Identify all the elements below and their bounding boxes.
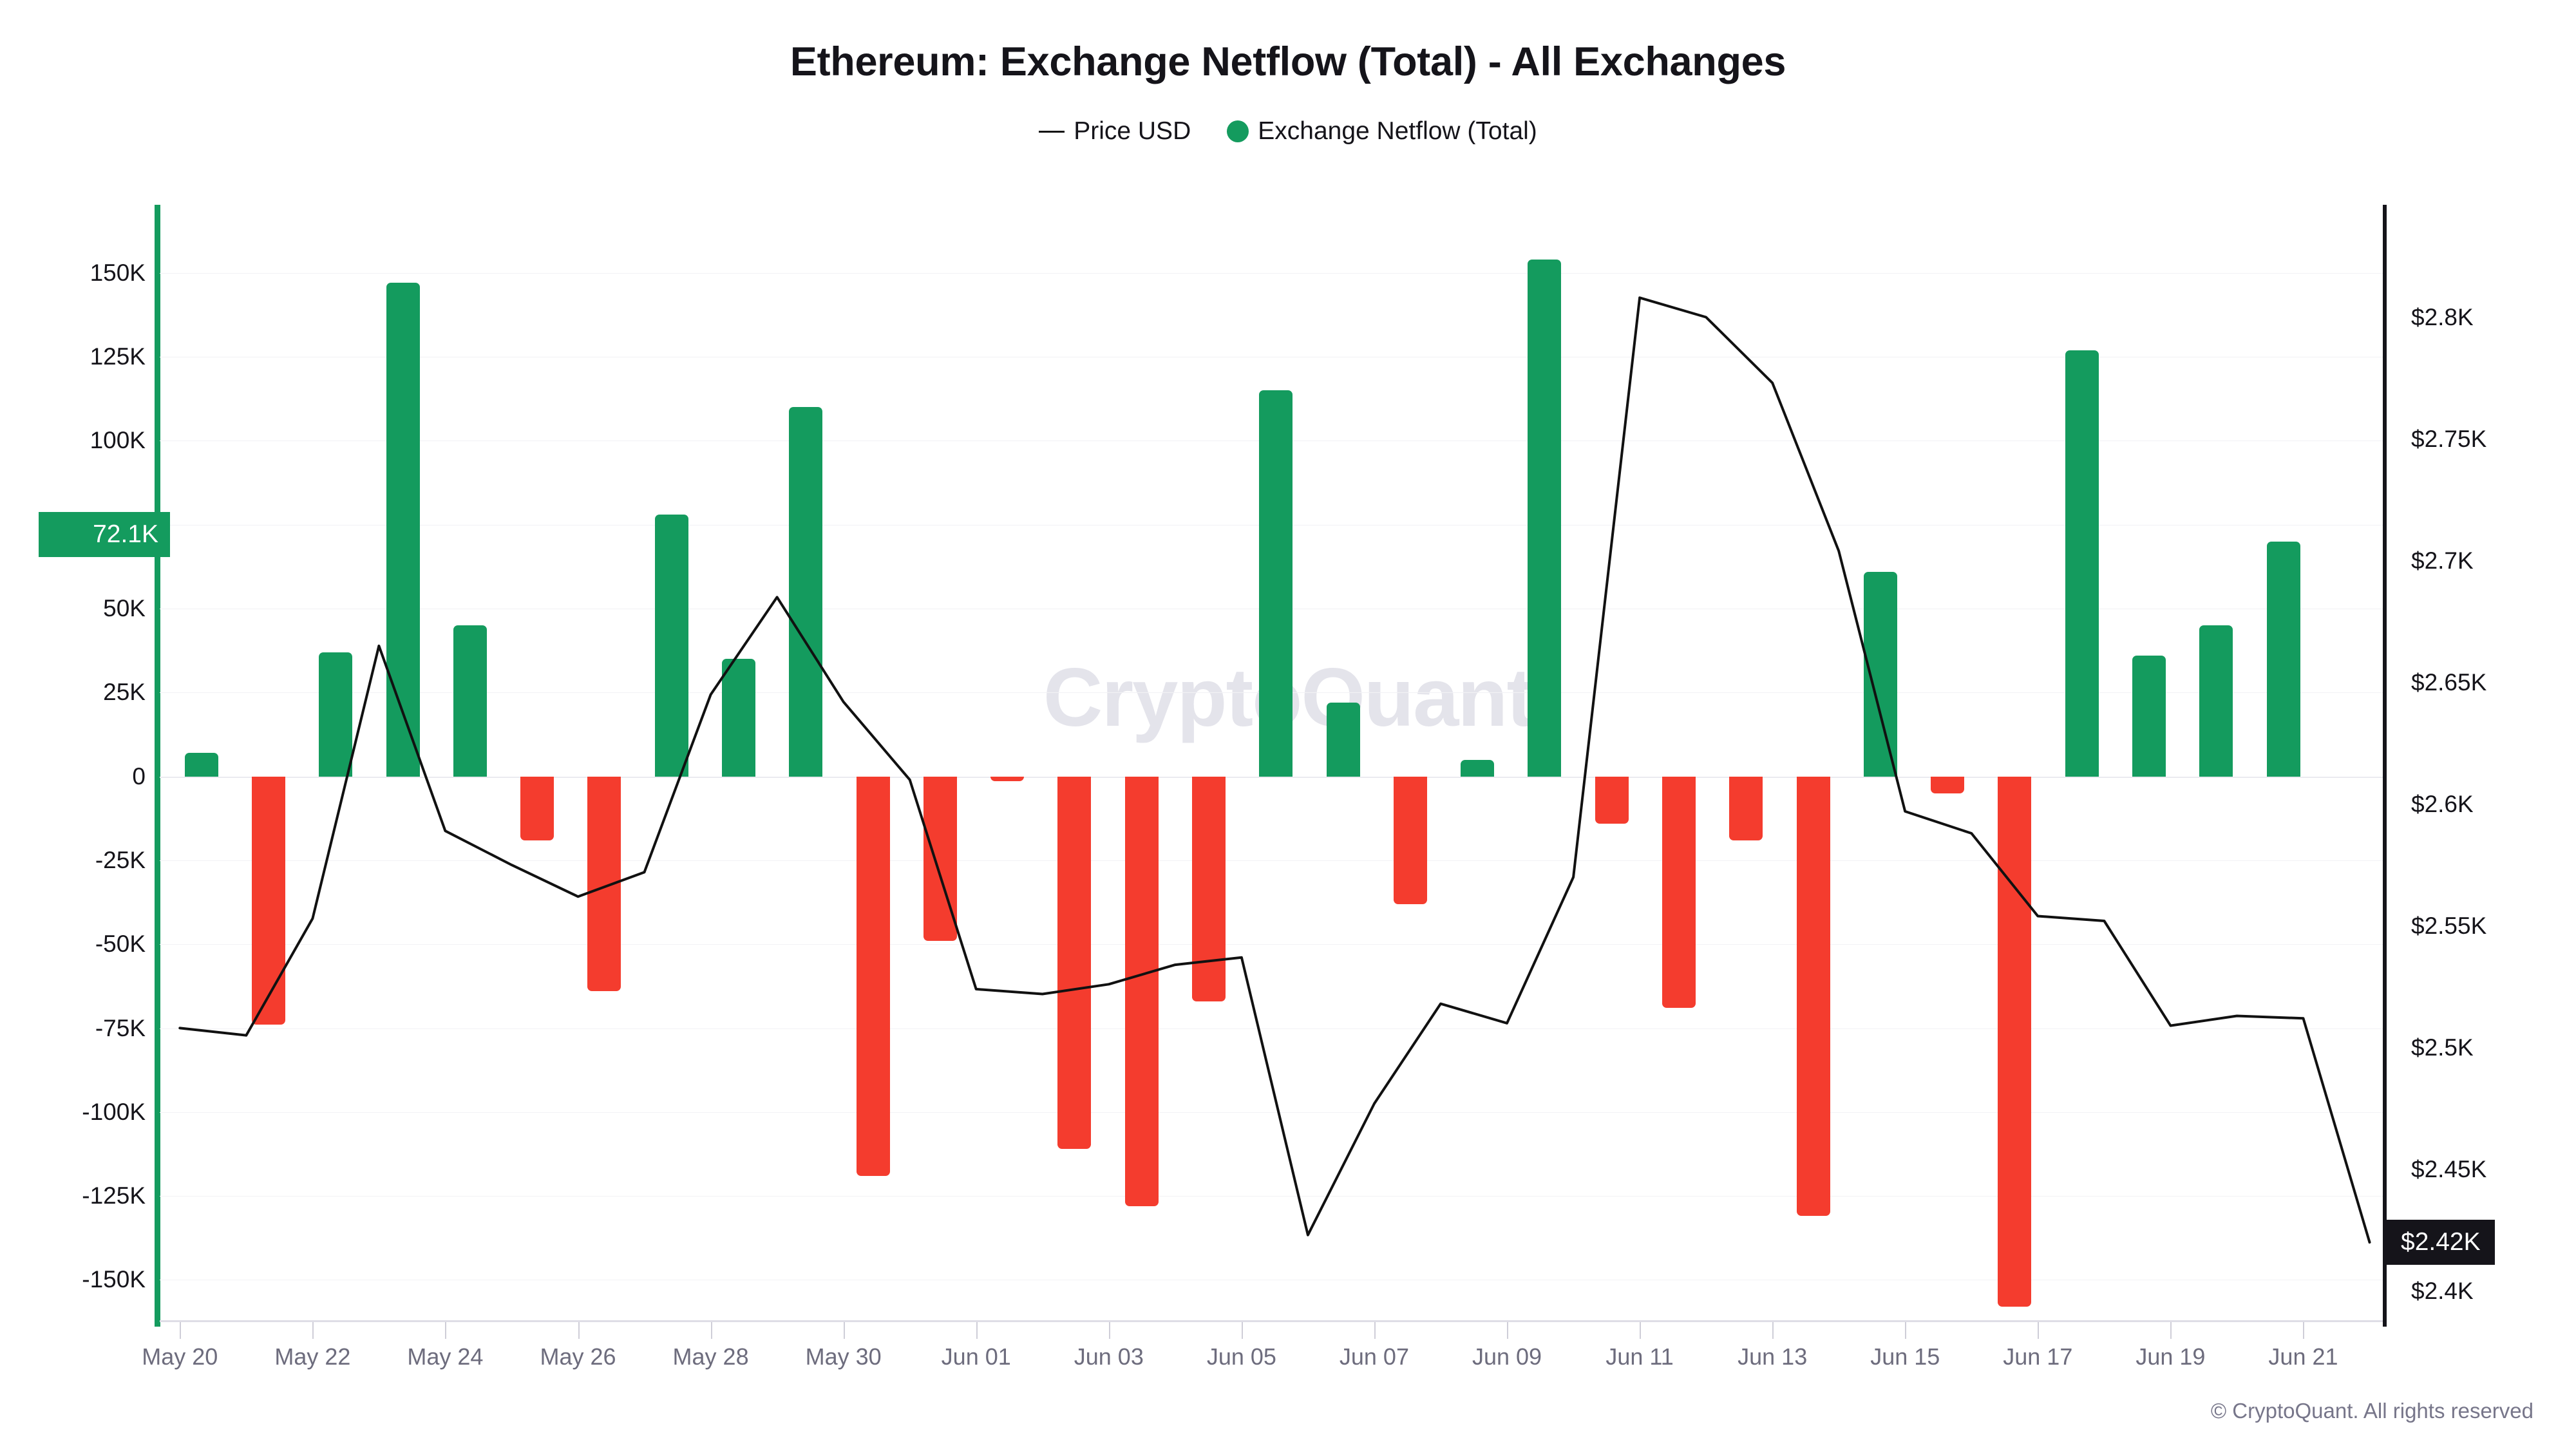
y-axis-left-tick-label: -100K xyxy=(82,1099,146,1126)
x-axis-tick-label: Jun 19 xyxy=(2136,1343,2205,1370)
y-axis-left-tick-label: 150K xyxy=(90,260,146,287)
y-axis-left-labels: 150K125K100K50K25K0-25K-50K-75K-100K-125… xyxy=(0,213,146,1320)
price-line-layer xyxy=(160,213,2383,1320)
line-marker-icon xyxy=(1039,131,1065,133)
y-axis-right-tick-label: $2.8K xyxy=(2411,304,2474,331)
x-axis-tick-mark xyxy=(844,1322,845,1339)
page-title: Ethereum: Exchange Netflow (Total) - All… xyxy=(0,39,2576,85)
x-axis-tick-mark xyxy=(1772,1322,1774,1339)
x-axis-tick-label: Jun 13 xyxy=(1738,1343,1807,1370)
x-axis-tick-mark xyxy=(1374,1322,1376,1339)
y-axis-left-tick-label: -125K xyxy=(82,1182,146,1209)
y-axis-right-tick-label: $2.5K xyxy=(2411,1034,2474,1061)
x-axis-tick-mark xyxy=(1507,1322,1508,1339)
x-axis-tick-label: May 28 xyxy=(673,1343,749,1370)
x-axis-tick-label: Jun 01 xyxy=(942,1343,1011,1370)
legend-label-exchange-netflow: Exchange Netflow (Total) xyxy=(1258,117,1537,146)
x-axis-tick-label: Jun 05 xyxy=(1207,1343,1276,1370)
legend-item-exchange-netflow[interactable]: Exchange Netflow (Total) xyxy=(1227,117,1537,146)
x-axis-tick-mark xyxy=(1242,1322,1243,1339)
x-tick-marks-layer xyxy=(160,1322,2383,1341)
x-axis-tick-label: May 24 xyxy=(407,1343,483,1370)
y-axis-right-tick-label: $2.65K xyxy=(2411,669,2486,696)
y-axis-right-tick-label: $2.7K xyxy=(2411,547,2474,574)
y-axis-left-tick-label: 50K xyxy=(103,595,146,622)
x-axis-tick-label: Jun 11 xyxy=(1605,1343,1673,1370)
x-axis-tick-mark xyxy=(2038,1322,2039,1339)
legend-item-price-usd[interactable]: Price USD xyxy=(1039,117,1191,146)
x-axis-tick-mark xyxy=(711,1322,712,1339)
x-axis-tick-mark xyxy=(1905,1322,1906,1339)
y-axis-right-line xyxy=(2383,205,2387,1327)
x-axis-tick-label: May 30 xyxy=(806,1343,882,1370)
legend-label-price-usd: Price USD xyxy=(1074,117,1191,146)
y-axis-left-tick-label: 100K xyxy=(90,427,146,454)
x-axis-tick-mark xyxy=(1109,1322,1110,1339)
x-axis-tick-label: May 20 xyxy=(142,1343,218,1370)
x-axis-tick-mark xyxy=(976,1322,978,1339)
y-axis-right-tick-label: $2.4K xyxy=(2411,1278,2474,1305)
x-axis-tick-mark xyxy=(312,1322,314,1339)
y-axis-left-tick-label: -25K xyxy=(95,847,146,874)
x-axis-tick-label: Jun 15 xyxy=(1870,1343,1940,1370)
price-usd-line xyxy=(180,298,2369,1242)
x-axis-tick-label: Jun 21 xyxy=(2268,1343,2338,1370)
x-axis-tick-mark xyxy=(445,1322,446,1339)
dot-marker-icon xyxy=(1227,120,1249,142)
price-line-svg xyxy=(160,213,2383,1320)
x-axis-tick-label: Jun 03 xyxy=(1074,1343,1144,1370)
y-axis-left-tick-label: -75K xyxy=(95,1015,146,1042)
x-axis-tick-label: May 26 xyxy=(540,1343,616,1370)
x-axis-tick-mark xyxy=(2170,1322,2172,1339)
y-axis-right-labels: $2.8K$2.75K$2.7K$2.65K$2.6K$2.55K$2.5K$2… xyxy=(2411,213,2572,1320)
left-axis-current-value-badge: 72.1K xyxy=(39,512,170,557)
x-axis-tick-mark xyxy=(2303,1322,2304,1339)
y-axis-left-tick-label: 125K xyxy=(90,343,146,370)
y-axis-right-tick-label: $2.75K xyxy=(2411,426,2486,453)
y-axis-right-tick-label: $2.45K xyxy=(2411,1156,2486,1183)
x-axis-tick-label: Jun 17 xyxy=(2003,1343,2072,1370)
x-axis-tick-label: May 22 xyxy=(274,1343,350,1370)
y-axis-right-tick-label: $2.55K xyxy=(2411,913,2486,940)
x-axis-tick-mark xyxy=(1640,1322,1641,1339)
right-axis-current-value-badge: $2.42K xyxy=(2387,1220,2495,1265)
chart-legend: Price USD Exchange Netflow (Total) xyxy=(0,117,2576,146)
y-axis-right-tick-label: $2.6K xyxy=(2411,791,2474,818)
x-axis-tick-mark xyxy=(180,1322,181,1339)
y-axis-left-tick-label: 0 xyxy=(132,763,146,790)
x-axis-tick-label: Jun 07 xyxy=(1340,1343,1409,1370)
copyright-credit: © CryptoQuant. All rights reserved xyxy=(2211,1399,2533,1423)
y-axis-left-tick-label: -150K xyxy=(82,1266,146,1293)
x-axis-tick-label: Jun 09 xyxy=(1472,1343,1542,1370)
x-axis-tick-mark xyxy=(578,1322,580,1339)
y-axis-left-tick-label: -50K xyxy=(95,931,146,958)
y-axis-left-tick-label: 25K xyxy=(103,679,146,706)
